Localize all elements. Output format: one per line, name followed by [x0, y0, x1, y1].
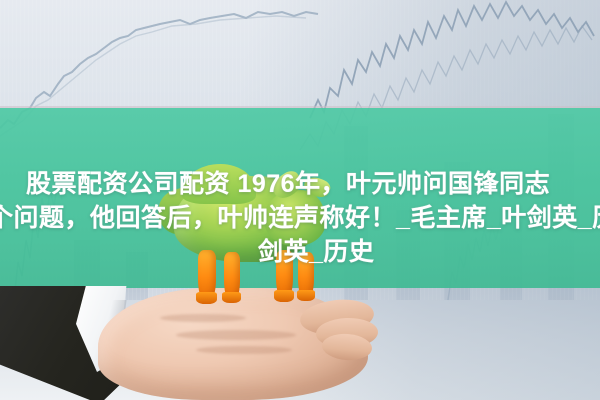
bull-hind-leg: [198, 250, 216, 298]
bull-hoof: [297, 290, 315, 301]
bull-head: [264, 190, 326, 246]
bull-hoof: [196, 292, 217, 304]
bull-hoof: [222, 292, 241, 303]
bull-shoulder-hump: [182, 164, 256, 204]
green-bull-figurine: [152, 150, 342, 300]
foreground-composite: [0, 0, 600, 400]
palm-crease: [176, 330, 296, 340]
bull-hoof: [274, 290, 294, 302]
stock-banner-image: 股票配资公司配资 1976年，叶元帅问国锋同志 个问题，他回答后，叶帅连声称好！…: [0, 0, 600, 400]
palm-crease: [196, 346, 292, 354]
palm-crease: [160, 314, 246, 322]
